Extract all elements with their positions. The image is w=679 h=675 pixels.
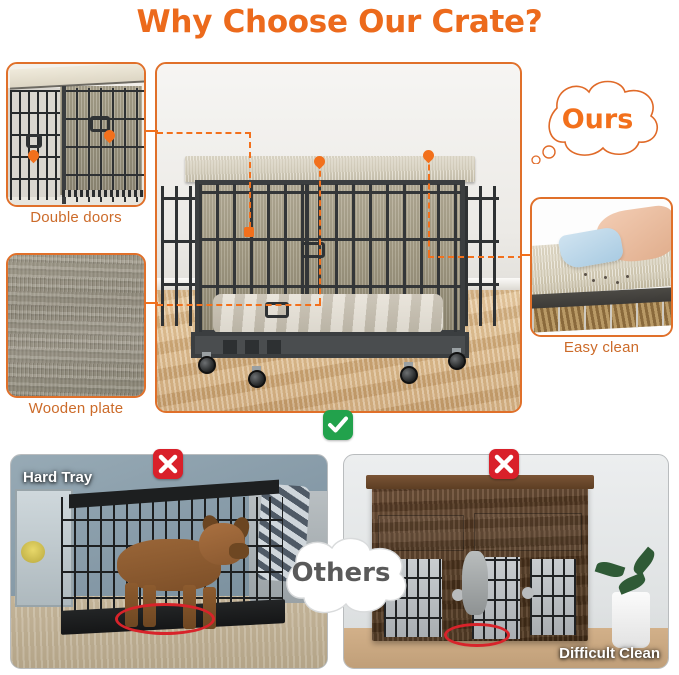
crate-bottom-rail — [62, 190, 146, 197]
crate-drawer-right — [474, 513, 582, 551]
crate-base-frame — [191, 332, 469, 358]
others-speech-bubble: Others — [262, 530, 420, 620]
competitor-crate-top — [366, 475, 594, 489]
connector-vertical-clean — [428, 155, 430, 256]
label-difficult-clean: Difficult Clean — [559, 645, 660, 662]
right-door-mesh — [64, 88, 146, 202]
caption-easy-clean: Easy clean — [530, 339, 673, 356]
page-title: Why Choose Our Crate? — [0, 4, 679, 40]
crate-caster-front-left — [247, 366, 267, 388]
cross-mark-icon — [494, 454, 514, 474]
feature-panel-easy-clean — [530, 197, 673, 337]
problem-highlight-ellipse — [444, 623, 510, 647]
feature-panel-double-doors — [6, 62, 146, 207]
connector-horizontal-door — [157, 132, 251, 134]
connector-vertical-door — [249, 132, 251, 228]
connector-horizontal-plate — [157, 304, 321, 306]
background-flowers — [21, 541, 45, 563]
cross-mark-icon — [158, 454, 178, 474]
crate-cushion — [213, 294, 443, 334]
infographic-root: Why Choose Our Crate? Double doors Woode… — [0, 0, 679, 675]
crate-window-right — [530, 559, 576, 635]
crumb-speck — [626, 275, 629, 278]
connector-horizontal-clean — [428, 256, 522, 258]
others-label: Others — [262, 558, 420, 588]
connector-doors-to-main — [146, 130, 158, 132]
label-hard-tray: Hard Tray — [23, 469, 92, 486]
cross-mark-badge-left — [153, 449, 183, 479]
crate-caster-front-right — [399, 362, 419, 384]
left-door-latch — [26, 134, 42, 148]
crate-latch-upper — [301, 242, 325, 258]
caption-wooden-plate: Wooden plate — [6, 400, 146, 417]
connector-plate-to-main — [146, 302, 158, 304]
plant-pot — [612, 592, 650, 648]
crumb-speck — [584, 273, 587, 276]
crumb-speck — [616, 281, 619, 284]
crate-caster-rear-left — [197, 352, 217, 374]
base-slat — [245, 340, 259, 354]
dog-snout — [229, 543, 249, 559]
wooden-plate-texture — [8, 255, 144, 396]
crate-caster-rear-right — [447, 348, 467, 370]
connector-vertical-center — [319, 161, 321, 304]
base-slat — [223, 340, 237, 354]
check-mark-badge — [323, 410, 353, 440]
caption-double-doors: Double doors — [6, 209, 146, 226]
door-center-post — [62, 86, 66, 204]
cross-mark-badge-right — [489, 449, 519, 479]
product-crate — [185, 156, 475, 371]
feature-panel-wooden-plate — [6, 253, 146, 398]
base-slat — [267, 340, 281, 354]
check-mark-icon — [327, 414, 349, 436]
crate-latch-right — [522, 587, 534, 599]
ours-speech-bubble: Ours — [525, 72, 670, 164]
dog-inside-crate — [462, 551, 488, 615]
crumb-speck — [604, 276, 607, 279]
pin-marker-door — [244, 227, 254, 237]
crumb-speck — [592, 279, 595, 282]
ours-label: Ours — [525, 104, 670, 135]
main-product-panel — [155, 62, 522, 413]
problem-highlight-ellipse — [115, 603, 215, 635]
